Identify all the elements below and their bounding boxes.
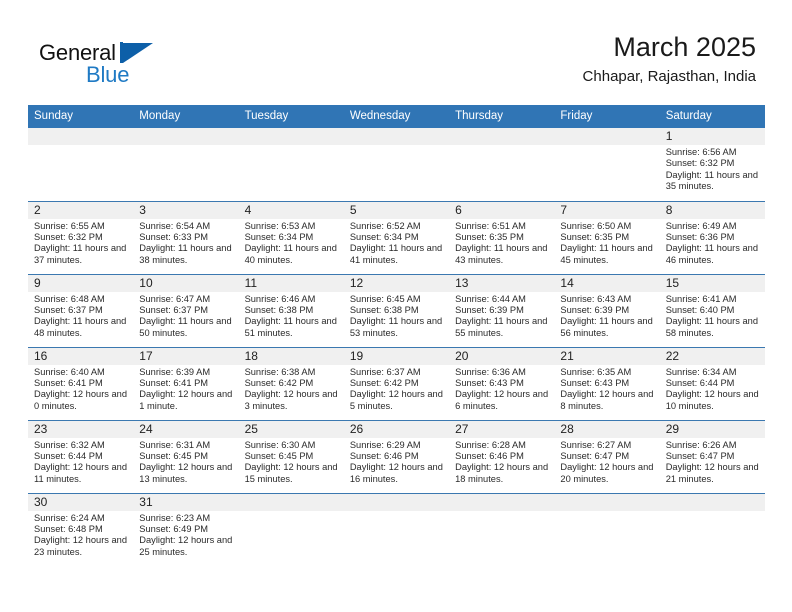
- weekday-header-sunday: Sunday: [28, 105, 133, 128]
- daylight-text: Daylight: 11 hours and 35 minutes.: [666, 170, 760, 193]
- day-details: Sunrise: 6:38 AMSunset: 6:42 PMDaylight:…: [239, 365, 344, 413]
- sunrise-text: Sunrise: 6:36 AM: [455, 367, 549, 378]
- sunset-text: Sunset: 6:39 PM: [560, 305, 654, 316]
- day-details: Sunrise: 6:24 AMSunset: 6:48 PMDaylight:…: [28, 511, 133, 559]
- calendar-week-row: 30Sunrise: 6:24 AMSunset: 6:48 PMDayligh…: [28, 493, 765, 566]
- daylight-text: Daylight: 12 hours and 8 minutes.: [560, 389, 654, 412]
- daylight-text: Daylight: 12 hours and 0 minutes.: [34, 389, 128, 412]
- sunset-text: Sunset: 6:33 PM: [139, 232, 233, 243]
- sunrise-text: Sunrise: 6:55 AM: [34, 221, 128, 232]
- day-number: [660, 494, 765, 511]
- day-number: 25: [239, 421, 344, 438]
- sunset-text: Sunset: 6:34 PM: [245, 232, 339, 243]
- day-number: 18: [239, 348, 344, 365]
- day-number: [344, 494, 449, 511]
- day-number: [239, 128, 344, 145]
- day-number: [28, 128, 133, 145]
- daylight-text: Daylight: 12 hours and 15 minutes.: [245, 462, 339, 485]
- day-details: Sunrise: 6:54 AMSunset: 6:33 PMDaylight:…: [133, 219, 238, 267]
- calendar-week-row: 1Sunrise: 6:56 AMSunset: 6:32 PMDaylight…: [28, 128, 765, 201]
- day-number: [554, 128, 659, 145]
- sunset-text: Sunset: 6:41 PM: [34, 378, 128, 389]
- weekday-header-thursday: Thursday: [449, 105, 554, 128]
- day-number: 7: [554, 202, 659, 219]
- daylight-text: Daylight: 11 hours and 51 minutes.: [245, 316, 339, 339]
- sunrise-text: Sunrise: 6:28 AM: [455, 440, 549, 451]
- calendar-day-cell[interactable]: 30Sunrise: 6:24 AMSunset: 6:48 PMDayligh…: [28, 493, 133, 566]
- calendar-day-cell[interactable]: 3Sunrise: 6:54 AMSunset: 6:33 PMDaylight…: [133, 201, 238, 274]
- day-number: [449, 128, 554, 145]
- day-details: Sunrise: 6:26 AMSunset: 6:47 PMDaylight:…: [660, 438, 765, 486]
- sunset-text: Sunset: 6:32 PM: [666, 158, 760, 169]
- day-details: Sunrise: 6:30 AMSunset: 6:45 PMDaylight:…: [239, 438, 344, 486]
- calendar-week-row: 23Sunrise: 6:32 AMSunset: 6:44 PMDayligh…: [28, 420, 765, 493]
- daylight-text: Daylight: 12 hours and 18 minutes.: [455, 462, 549, 485]
- weekday-header-tuesday: Tuesday: [239, 105, 344, 128]
- daylight-text: Daylight: 12 hours and 1 minute.: [139, 389, 233, 412]
- daylight-text: Daylight: 11 hours and 53 minutes.: [350, 316, 444, 339]
- day-details: Sunrise: 6:51 AMSunset: 6:35 PMDaylight:…: [449, 219, 554, 267]
- calendar-week-row: 9Sunrise: 6:48 AMSunset: 6:37 PMDaylight…: [28, 274, 765, 347]
- day-number: 13: [449, 275, 554, 292]
- calendar-day-cell[interactable]: 1Sunrise: 6:56 AMSunset: 6:32 PMDaylight…: [660, 128, 765, 201]
- day-number: 23: [28, 421, 133, 438]
- sunset-text: Sunset: 6:49 PM: [139, 524, 233, 535]
- calendar-day-cell[interactable]: 7Sunrise: 6:50 AMSunset: 6:35 PMDaylight…: [554, 201, 659, 274]
- calendar-day-cell[interactable]: 19Sunrise: 6:37 AMSunset: 6:42 PMDayligh…: [344, 347, 449, 420]
- sunset-text: Sunset: 6:38 PM: [245, 305, 339, 316]
- day-details: Sunrise: 6:47 AMSunset: 6:37 PMDaylight:…: [133, 292, 238, 340]
- daylight-text: Daylight: 12 hours and 3 minutes.: [245, 389, 339, 412]
- sunrise-text: Sunrise: 6:45 AM: [350, 294, 444, 305]
- daylight-text: Daylight: 12 hours and 20 minutes.: [560, 462, 654, 485]
- calendar-day-cell-empty: [239, 493, 344, 566]
- daylight-text: Daylight: 12 hours and 5 minutes.: [350, 389, 444, 412]
- day-details: Sunrise: 6:28 AMSunset: 6:46 PMDaylight:…: [449, 438, 554, 486]
- daylight-text: Daylight: 11 hours and 48 minutes.: [34, 316, 128, 339]
- sunrise-text: Sunrise: 6:32 AM: [34, 440, 128, 451]
- sunset-text: Sunset: 6:47 PM: [666, 451, 760, 462]
- day-details: Sunrise: 6:48 AMSunset: 6:37 PMDaylight:…: [28, 292, 133, 340]
- day-number: 21: [554, 348, 659, 365]
- day-details: Sunrise: 6:43 AMSunset: 6:39 PMDaylight:…: [554, 292, 659, 340]
- calendar-day-cell[interactable]: 8Sunrise: 6:49 AMSunset: 6:36 PMDaylight…: [660, 201, 765, 274]
- sunrise-text: Sunrise: 6:43 AM: [560, 294, 654, 305]
- calendar-day-cell[interactable]: 20Sunrise: 6:36 AMSunset: 6:43 PMDayligh…: [449, 347, 554, 420]
- day-number: 26: [344, 421, 449, 438]
- daylight-text: Daylight: 11 hours and 43 minutes.: [455, 243, 549, 266]
- day-details: Sunrise: 6:40 AMSunset: 6:41 PMDaylight:…: [28, 365, 133, 413]
- day-number: 15: [660, 275, 765, 292]
- sunrise-text: Sunrise: 6:37 AM: [350, 367, 444, 378]
- day-details: Sunrise: 6:41 AMSunset: 6:40 PMDaylight:…: [660, 292, 765, 340]
- calendar-day-cell[interactable]: 17Sunrise: 6:39 AMSunset: 6:41 PMDayligh…: [133, 347, 238, 420]
- day-number: 27: [449, 421, 554, 438]
- sunrise-text: Sunrise: 6:26 AM: [666, 440, 760, 451]
- daylight-text: Daylight: 12 hours and 6 minutes.: [455, 389, 549, 412]
- page-title: March 2025: [583, 30, 756, 64]
- calendar-day-cell[interactable]: 29Sunrise: 6:26 AMSunset: 6:47 PMDayligh…: [660, 420, 765, 493]
- calendar-day-cell[interactable]: 24Sunrise: 6:31 AMSunset: 6:45 PMDayligh…: [133, 420, 238, 493]
- day-details: Sunrise: 6:56 AMSunset: 6:32 PMDaylight:…: [660, 145, 765, 193]
- sunset-text: Sunset: 6:36 PM: [666, 232, 760, 243]
- sunset-text: Sunset: 6:45 PM: [245, 451, 339, 462]
- day-details: Sunrise: 6:49 AMSunset: 6:36 PMDaylight:…: [660, 219, 765, 267]
- sunrise-text: Sunrise: 6:54 AM: [139, 221, 233, 232]
- sunset-text: Sunset: 6:40 PM: [666, 305, 760, 316]
- calendar-day-cell[interactable]: 9Sunrise: 6:48 AMSunset: 6:37 PMDaylight…: [28, 274, 133, 347]
- day-details: Sunrise: 6:52 AMSunset: 6:34 PMDaylight:…: [344, 219, 449, 267]
- day-number: 22: [660, 348, 765, 365]
- sunset-text: Sunset: 6:45 PM: [139, 451, 233, 462]
- day-number: 9: [28, 275, 133, 292]
- calendar-day-cell[interactable]: 12Sunrise: 6:45 AMSunset: 6:38 PMDayligh…: [344, 274, 449, 347]
- calendar-day-cell[interactable]: 4Sunrise: 6:53 AMSunset: 6:34 PMDaylight…: [239, 201, 344, 274]
- weekday-header-friday: Friday: [554, 105, 659, 128]
- sunset-text: Sunset: 6:41 PM: [139, 378, 233, 389]
- sunrise-text: Sunrise: 6:30 AM: [245, 440, 339, 451]
- sunset-text: Sunset: 6:37 PM: [139, 305, 233, 316]
- daylight-text: Daylight: 12 hours and 23 minutes.: [34, 535, 128, 558]
- calendar-day-cell[interactable]: 27Sunrise: 6:28 AMSunset: 6:46 PMDayligh…: [449, 420, 554, 493]
- sunrise-text: Sunrise: 6:56 AM: [666, 147, 760, 158]
- sunrise-text: Sunrise: 6:38 AM: [245, 367, 339, 378]
- sunrise-text: Sunrise: 6:23 AM: [139, 513, 233, 524]
- daylight-text: Daylight: 12 hours and 21 minutes.: [666, 462, 760, 485]
- sunset-text: Sunset: 6:46 PM: [350, 451, 444, 462]
- day-number: 30: [28, 494, 133, 511]
- calendar-day-cell[interactable]: 26Sunrise: 6:29 AMSunset: 6:46 PMDayligh…: [344, 420, 449, 493]
- sunset-text: Sunset: 6:46 PM: [455, 451, 549, 462]
- day-number: 3: [133, 202, 238, 219]
- calendar-day-cell[interactable]: 5Sunrise: 6:52 AMSunset: 6:34 PMDaylight…: [344, 201, 449, 274]
- calendar-day-cell[interactable]: 16Sunrise: 6:40 AMSunset: 6:41 PMDayligh…: [28, 347, 133, 420]
- calendar-week-row: 16Sunrise: 6:40 AMSunset: 6:41 PMDayligh…: [28, 347, 765, 420]
- sunset-text: Sunset: 6:37 PM: [34, 305, 128, 316]
- sunset-text: Sunset: 6:43 PM: [455, 378, 549, 389]
- calendar-day-cell[interactable]: 18Sunrise: 6:38 AMSunset: 6:42 PMDayligh…: [239, 347, 344, 420]
- calendar-day-cell[interactable]: 11Sunrise: 6:46 AMSunset: 6:38 PMDayligh…: [239, 274, 344, 347]
- day-number: 4: [239, 202, 344, 219]
- calendar-header-row: Sunday Monday Tuesday Wednesday Thursday…: [28, 105, 765, 128]
- calendar-day-cell-empty: [449, 128, 554, 201]
- calendar-day-cell[interactable]: 28Sunrise: 6:27 AMSunset: 6:47 PMDayligh…: [554, 420, 659, 493]
- daylight-text: Daylight: 12 hours and 10 minutes.: [666, 389, 760, 412]
- title-block: March 2025 Chhapar, Rajasthan, India: [583, 30, 756, 88]
- sunset-text: Sunset: 6:38 PM: [350, 305, 444, 316]
- blue-triangle-icon: [123, 43, 153, 63]
- calendar-day-cell[interactable]: 6Sunrise: 6:51 AMSunset: 6:35 PMDaylight…: [449, 201, 554, 274]
- day-number: 1: [660, 128, 765, 145]
- calendar-day-cell[interactable]: 22Sunrise: 6:34 AMSunset: 6:44 PMDayligh…: [660, 347, 765, 420]
- logo-text-blue: Blue: [86, 62, 129, 88]
- sunrise-text: Sunrise: 6:29 AM: [350, 440, 444, 451]
- sunrise-text: Sunrise: 6:41 AM: [666, 294, 760, 305]
- day-details: Sunrise: 6:36 AMSunset: 6:43 PMDaylight:…: [449, 365, 554, 413]
- sunrise-text: Sunrise: 6:49 AM: [666, 221, 760, 232]
- day-number: 17: [133, 348, 238, 365]
- sunrise-text: Sunrise: 6:44 AM: [455, 294, 549, 305]
- daylight-text: Daylight: 11 hours and 41 minutes.: [350, 243, 444, 266]
- sunrise-text: Sunrise: 6:47 AM: [139, 294, 233, 305]
- day-details: Sunrise: 6:53 AMSunset: 6:34 PMDaylight:…: [239, 219, 344, 267]
- calendar-week-row: 2Sunrise: 6:55 AMSunset: 6:32 PMDaylight…: [28, 201, 765, 274]
- daylight-text: Daylight: 11 hours and 55 minutes.: [455, 316, 549, 339]
- day-details: Sunrise: 6:23 AMSunset: 6:49 PMDaylight:…: [133, 511, 238, 559]
- daylight-text: Daylight: 12 hours and 16 minutes.: [350, 462, 444, 485]
- calendar-day-cell-empty: [239, 128, 344, 201]
- day-number: [344, 128, 449, 145]
- sunrise-text: Sunrise: 6:24 AM: [34, 513, 128, 524]
- sunset-text: Sunset: 6:44 PM: [34, 451, 128, 462]
- daylight-text: Daylight: 11 hours and 45 minutes.: [560, 243, 654, 266]
- calendar-table: Sunday Monday Tuesday Wednesday Thursday…: [28, 105, 765, 566]
- daylight-text: Daylight: 11 hours and 56 minutes.: [560, 316, 654, 339]
- day-details: Sunrise: 6:46 AMSunset: 6:38 PMDaylight:…: [239, 292, 344, 340]
- sunset-text: Sunset: 6:47 PM: [560, 451, 654, 462]
- daylight-text: Daylight: 11 hours and 38 minutes.: [139, 243, 233, 266]
- day-number: 10: [133, 275, 238, 292]
- day-details: Sunrise: 6:37 AMSunset: 6:42 PMDaylight:…: [344, 365, 449, 413]
- daylight-text: Daylight: 12 hours and 13 minutes.: [139, 462, 233, 485]
- day-number: 12: [344, 275, 449, 292]
- day-number: [133, 128, 238, 145]
- day-number: 8: [660, 202, 765, 219]
- calendar-day-cell[interactable]: 15Sunrise: 6:41 AMSunset: 6:40 PMDayligh…: [660, 274, 765, 347]
- day-details: Sunrise: 6:50 AMSunset: 6:35 PMDaylight:…: [554, 219, 659, 267]
- calendar-day-cell-empty: [660, 493, 765, 566]
- day-number: 20: [449, 348, 554, 365]
- daylight-text: Daylight: 11 hours and 37 minutes.: [34, 243, 128, 266]
- day-number: [554, 494, 659, 511]
- day-number: 11: [239, 275, 344, 292]
- day-details: Sunrise: 6:31 AMSunset: 6:45 PMDaylight:…: [133, 438, 238, 486]
- sunrise-text: Sunrise: 6:52 AM: [350, 221, 444, 232]
- day-number: 16: [28, 348, 133, 365]
- calendar-day-cell-empty: [344, 128, 449, 201]
- sunrise-text: Sunrise: 6:50 AM: [560, 221, 654, 232]
- day-details: Sunrise: 6:34 AMSunset: 6:44 PMDaylight:…: [660, 365, 765, 413]
- page-header: General Blue March 2025 Chhapar, Rajasth…: [0, 0, 792, 96]
- sunset-text: Sunset: 6:32 PM: [34, 232, 128, 243]
- sunrise-text: Sunrise: 6:31 AM: [139, 440, 233, 451]
- calendar-day-cell-empty: [344, 493, 449, 566]
- sunset-text: Sunset: 6:35 PM: [560, 232, 654, 243]
- page-subtitle: Chhapar, Rajasthan, India: [583, 66, 756, 88]
- day-number: 31: [133, 494, 238, 511]
- sunset-text: Sunset: 6:35 PM: [455, 232, 549, 243]
- daylight-text: Daylight: 11 hours and 46 minutes.: [666, 243, 760, 266]
- daylight-text: Daylight: 12 hours and 11 minutes.: [34, 462, 128, 485]
- day-number: [449, 494, 554, 511]
- day-details: Sunrise: 6:29 AMSunset: 6:46 PMDaylight:…: [344, 438, 449, 486]
- sunrise-text: Sunrise: 6:34 AM: [666, 367, 760, 378]
- calendar-day-cell[interactable]: 10Sunrise: 6:47 AMSunset: 6:37 PMDayligh…: [133, 274, 238, 347]
- calendar-day-cell[interactable]: 13Sunrise: 6:44 AMSunset: 6:39 PMDayligh…: [449, 274, 554, 347]
- sunset-text: Sunset: 6:42 PM: [245, 378, 339, 389]
- day-number: 2: [28, 202, 133, 219]
- calendar-day-cell[interactable]: 2Sunrise: 6:55 AMSunset: 6:32 PMDaylight…: [28, 201, 133, 274]
- daylight-text: Daylight: 11 hours and 40 minutes.: [245, 243, 339, 266]
- day-details: Sunrise: 6:39 AMSunset: 6:41 PMDaylight:…: [133, 365, 238, 413]
- calendar-day-cell[interactable]: 14Sunrise: 6:43 AMSunset: 6:39 PMDayligh…: [554, 274, 659, 347]
- sunset-text: Sunset: 6:44 PM: [666, 378, 760, 389]
- day-details: Sunrise: 6:32 AMSunset: 6:44 PMDaylight:…: [28, 438, 133, 486]
- day-details: Sunrise: 6:55 AMSunset: 6:32 PMDaylight:…: [28, 219, 133, 267]
- calendar-day-cell-empty: [28, 128, 133, 201]
- weekday-header-monday: Monday: [133, 105, 238, 128]
- weekday-header-saturday: Saturday: [660, 105, 765, 128]
- day-number: 29: [660, 421, 765, 438]
- sunset-text: Sunset: 6:42 PM: [350, 378, 444, 389]
- day-number: 24: [133, 421, 238, 438]
- sunset-text: Sunset: 6:48 PM: [34, 524, 128, 535]
- calendar-day-cell-empty: [554, 128, 659, 201]
- day-details: Sunrise: 6:44 AMSunset: 6:39 PMDaylight:…: [449, 292, 554, 340]
- daylight-text: Daylight: 11 hours and 58 minutes.: [666, 316, 760, 339]
- sunrise-text: Sunrise: 6:48 AM: [34, 294, 128, 305]
- day-number: 19: [344, 348, 449, 365]
- day-details: Sunrise: 6:45 AMSunset: 6:38 PMDaylight:…: [344, 292, 449, 340]
- calendar-day-cell[interactable]: 31Sunrise: 6:23 AMSunset: 6:49 PMDayligh…: [133, 493, 238, 566]
- sunset-text: Sunset: 6:39 PM: [455, 305, 549, 316]
- sunset-text: Sunset: 6:34 PM: [350, 232, 444, 243]
- sunrise-text: Sunrise: 6:53 AM: [245, 221, 339, 232]
- day-number: 5: [344, 202, 449, 219]
- weekday-header-wednesday: Wednesday: [344, 105, 449, 128]
- day-number: 14: [554, 275, 659, 292]
- sunset-text: Sunset: 6:43 PM: [560, 378, 654, 389]
- sunrise-text: Sunrise: 6:35 AM: [560, 367, 654, 378]
- calendar-day-cell[interactable]: 23Sunrise: 6:32 AMSunset: 6:44 PMDayligh…: [28, 420, 133, 493]
- calendar-day-cell-empty: [554, 493, 659, 566]
- calendar-day-cell-empty: [133, 128, 238, 201]
- calendar-day-cell-empty: [449, 493, 554, 566]
- sunrise-text: Sunrise: 6:27 AM: [560, 440, 654, 451]
- calendar-day-cell[interactable]: 21Sunrise: 6:35 AMSunset: 6:43 PMDayligh…: [554, 347, 659, 420]
- calendar-day-cell[interactable]: 25Sunrise: 6:30 AMSunset: 6:45 PMDayligh…: [239, 420, 344, 493]
- calendar-body: 1Sunrise: 6:56 AMSunset: 6:32 PMDaylight…: [28, 128, 765, 566]
- day-number: 28: [554, 421, 659, 438]
- calendar-page: General Blue March 2025 Chhapar, Rajasth…: [0, 0, 792, 612]
- sunrise-text: Sunrise: 6:40 AM: [34, 367, 128, 378]
- day-number: 6: [449, 202, 554, 219]
- day-details: Sunrise: 6:27 AMSunset: 6:47 PMDaylight:…: [554, 438, 659, 486]
- general-blue-logo[interactable]: General Blue: [39, 40, 199, 90]
- sunrise-text: Sunrise: 6:51 AM: [455, 221, 549, 232]
- daylight-text: Daylight: 11 hours and 50 minutes.: [139, 316, 233, 339]
- sunrise-text: Sunrise: 6:46 AM: [245, 294, 339, 305]
- day-number: [239, 494, 344, 511]
- daylight-text: Daylight: 12 hours and 25 minutes.: [139, 535, 233, 558]
- day-details: Sunrise: 6:35 AMSunset: 6:43 PMDaylight:…: [554, 365, 659, 413]
- sunrise-text: Sunrise: 6:39 AM: [139, 367, 233, 378]
